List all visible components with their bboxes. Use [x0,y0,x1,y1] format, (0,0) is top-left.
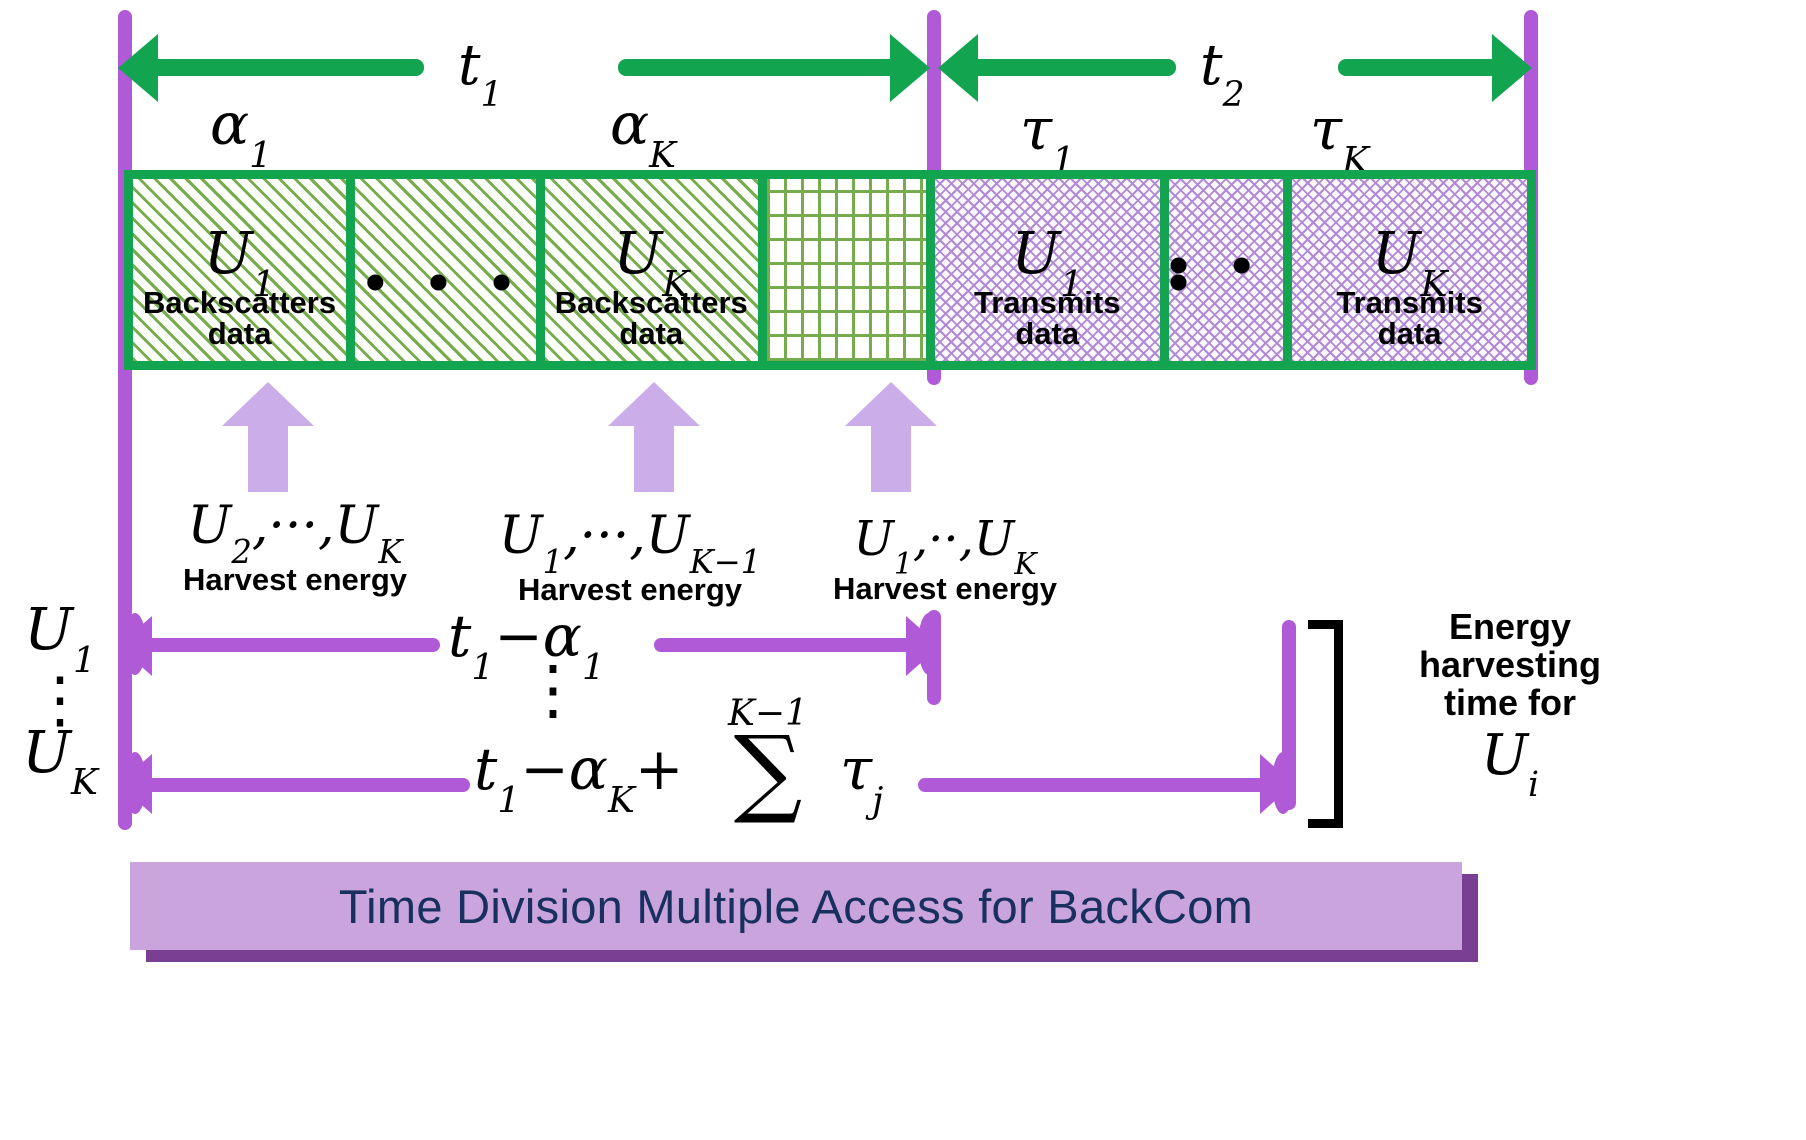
t1-right-arrowhead [890,34,930,102]
rail-start [118,10,132,830]
t1-sub: 1 [481,75,503,115]
harvest-1-caption: Harvest energy [140,564,450,597]
f2-tau: τ [840,735,872,803]
harvest-2-users: U1,···,UK−1 [470,510,790,570]
left-user-stack: U1 ⋮ UK [8,600,112,791]
harvest-label-2: U1,···,UK−1 Harvest energy [470,510,790,606]
summation-term-tau: τj [840,740,883,809]
t2-left-bar [954,59,1176,76]
t1-right-bar [618,59,898,76]
energy-note-symbol-base: U [1481,723,1528,788]
duration-uk-formula: t1−αK+ [474,740,683,809]
energy-harvesting-note: Energy harvesting time for Ui [1360,608,1660,793]
f2-t: t [474,735,497,803]
energy-harvesting-bracket [1308,620,1343,828]
t2-right-bar [1338,59,1498,76]
energy-note-line-3: time for [1360,684,1660,722]
f2-tau-sub: j [872,780,883,821]
slot-action-label: Transmitsdata [974,287,1120,349]
slot-tau-1: U1Transmitsdata [935,179,1169,361]
duration-uk-left-bar [140,778,470,792]
t2-right-arrowhead [1492,34,1532,102]
tdma-backcom-diagram: t1 t2 α1 αK τ1 τK U1Backscattersdata• • … [0,0,1806,1140]
slot-alpha-1: U1Backscattersdata [133,179,355,361]
t1-left-bar [134,59,424,76]
harvest-arrow-1-shaft [248,420,288,492]
summation-block: K−1 ∑ [728,696,808,811]
left-user-top-base: U [24,595,73,663]
left-user-bottom: UK [8,723,112,792]
slot-idle-grid [767,179,935,361]
f2-plus: + [635,735,684,803]
f2-alpha: α [569,735,608,803]
harvest-arrow-3-shaft [871,420,911,492]
harvest-arrow-3 [845,382,937,492]
t2-base: t [1200,33,1223,98]
harvest-3-users: U1,··,UK [800,515,1090,571]
slot-action-label: Backscattersdata [143,287,336,349]
harvest-arrow-2 [608,382,700,492]
left-user-vdots: ⋮ [8,683,112,717]
duration-u1-left-bar [140,638,440,652]
slot-symbol-tau-1: τ1 [1020,100,1075,169]
duration-row-uk: t1−αK+ K−1 ∑ τj [118,748,1308,824]
slot-user-symbol: U1 [204,227,276,291]
slot-symbol-tau-K: τK [1310,100,1369,169]
duration-uk-right-cap [1272,752,1294,814]
slot-alpha-dots: • • • [355,179,545,361]
alpha1-base: α [210,90,249,158]
slot-ellipsis: • • • [365,274,525,291]
slot-ellipsis: • • • [1169,257,1283,291]
slot-alpha-K: UKBackscattersdata [545,179,767,361]
energy-note-line-1: Energy [1360,608,1660,646]
harvest-arrow-2-shaft [634,420,674,492]
t2-label: t2 [1200,38,1245,103]
t1-label: t1 [458,38,503,103]
f2-alpha-sub: K [608,780,635,821]
slot-action-label: Transmitsdata [1336,287,1482,349]
slot-symbol-alpha-K: αK [610,95,676,164]
title-banner-text: Time Division Multiple Access for BackCo… [339,879,1253,934]
duration-u1-right-cap [918,613,940,675]
alphaK-base: α [610,90,649,158]
t1-base: t [458,33,481,98]
duration-rows-vdots: ⋮ [520,672,560,708]
left-user-top: U1 [8,600,112,669]
f1-t-sub: 1 [471,647,494,688]
energy-note-symbol: Ui [1360,728,1660,793]
left-user-bottom-sub: K [71,762,98,803]
f1-t: t [448,602,471,670]
title-banner: Time Division Multiple Access for BackCo… [130,862,1462,950]
f2-minus: − [520,735,569,803]
left-user-top-sub: 1 [73,640,96,681]
slot-action-label: Backscattersdata [555,287,748,349]
left-user-bottom-base: U [22,718,71,786]
energy-note-symbol-sub: i [1528,765,1539,805]
harvest-3-caption: Harvest energy [800,573,1090,606]
sigma-icon: ∑ [728,732,808,811]
harvest-arrow-1 [222,382,314,492]
harvest-1-users: U2,···,UK [140,500,450,560]
f2-t-sub: 1 [497,780,520,821]
duration-uk-right-bar [918,778,1266,792]
tauK-base: τ [1310,95,1342,163]
slot-user-symbol: UK [1372,227,1448,291]
slot-tau-dots: • • • [1169,179,1292,361]
t2-sub: 2 [1223,75,1245,115]
duration-u1-right-bar [654,638,912,652]
tau1-base: τ [1020,95,1052,163]
timeline-strip: U1Backscattersdata• • •UKBackscattersdat… [124,170,1536,370]
harvest-label-3: U1,··,UK Harvest energy [800,515,1090,606]
slot-user-symbol: U1 [1011,227,1083,291]
slot-symbol-alpha-1: α1 [210,95,272,164]
slot-tau-K: UKTransmitsdata [1292,179,1527,361]
harvest-label-1: U2,···,UK Harvest energy [140,500,450,596]
energy-note-line-2: harvesting [1360,646,1660,684]
slot-user-symbol: UK [613,227,689,291]
